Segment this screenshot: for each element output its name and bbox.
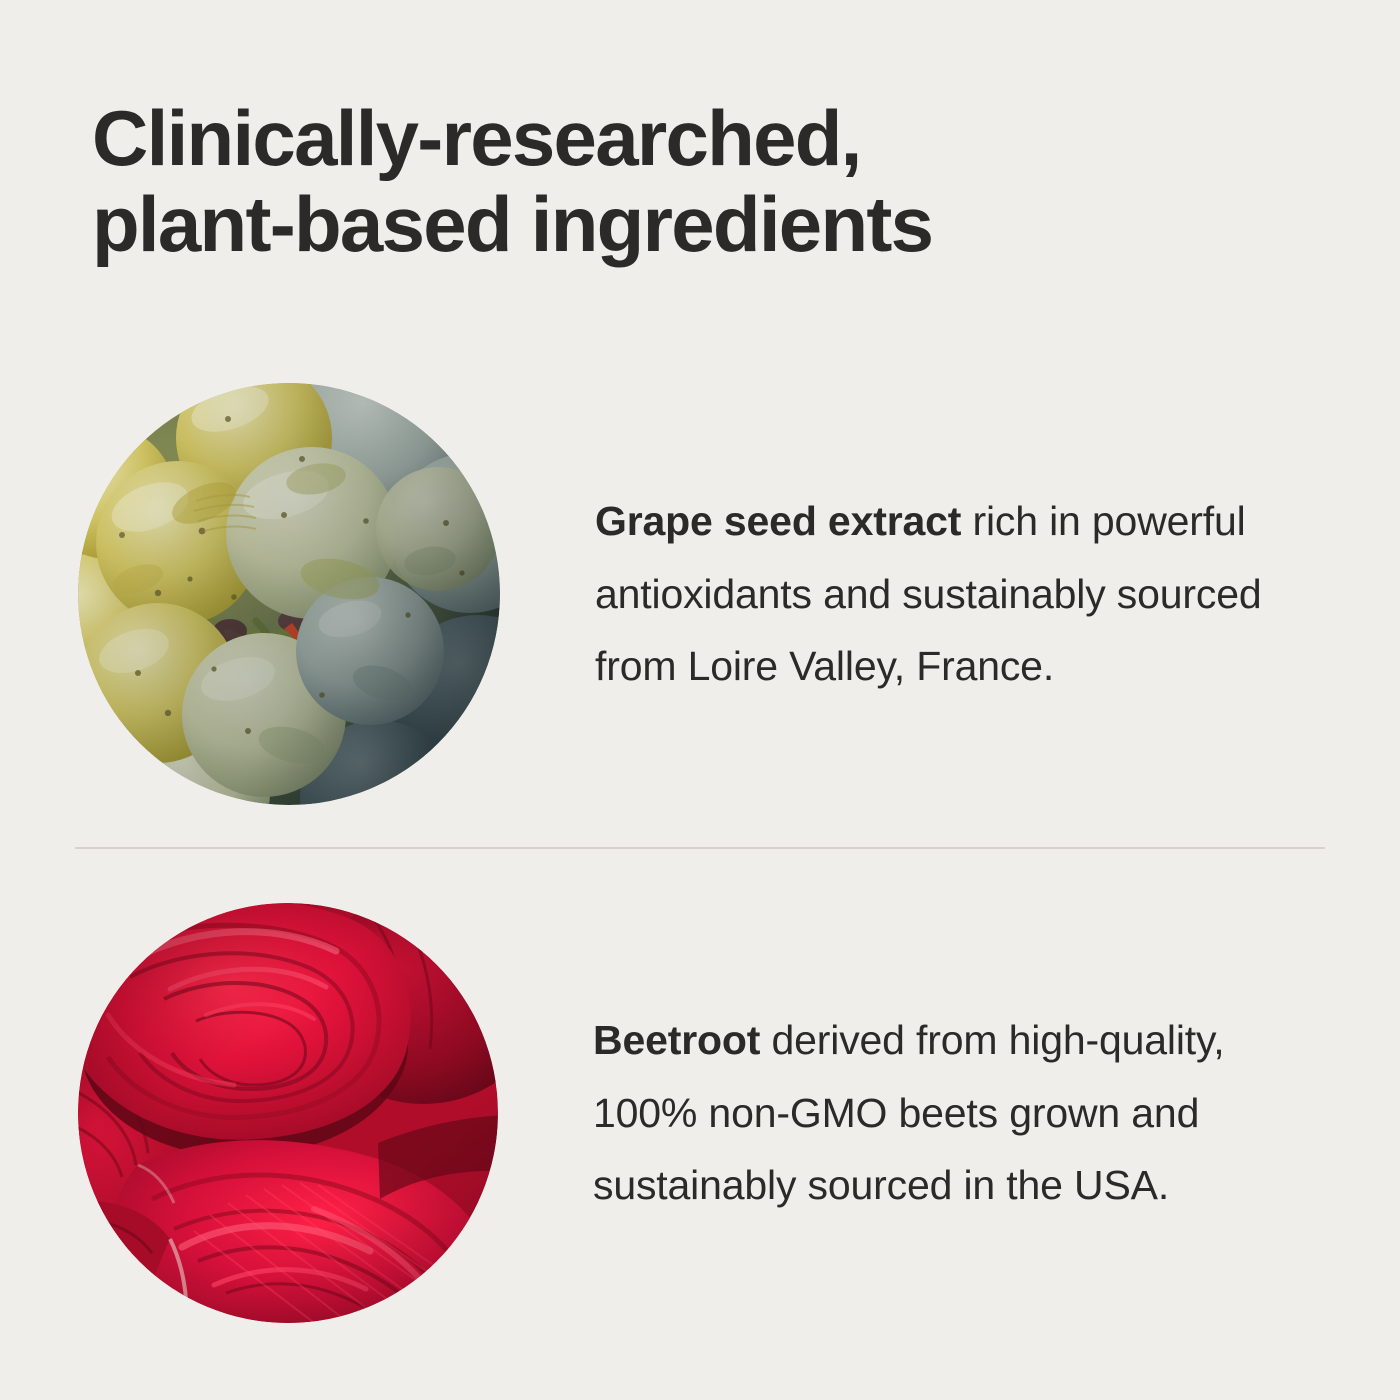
page-title: Clinically-researched, plant-based ingre… bbox=[92, 96, 1342, 268]
ingredient-row-grape-seed-extract: Grape seed extract rich in powerful anti… bbox=[0, 383, 1400, 805]
ingredient-highlight-page: Clinically-researched, plant-based ingre… bbox=[0, 0, 1400, 1400]
section-divider bbox=[75, 847, 1325, 849]
ingredient-description-grape-seed-extract: Grape seed extract rich in powerful anti… bbox=[595, 485, 1400, 704]
ingredient-name-beetroot: Beetroot bbox=[593, 1017, 760, 1063]
ingredient-description-beetroot: Beetroot derived from high-quality, 100%… bbox=[593, 1004, 1400, 1223]
grape-cluster-photo bbox=[78, 383, 500, 805]
ingredient-row-beetroot: Beetroot derived from high-quality, 100%… bbox=[0, 903, 1400, 1323]
ingredient-name-grape-seed-extract: Grape seed extract bbox=[595, 498, 961, 544]
beetroot-slices-photo bbox=[78, 903, 498, 1323]
